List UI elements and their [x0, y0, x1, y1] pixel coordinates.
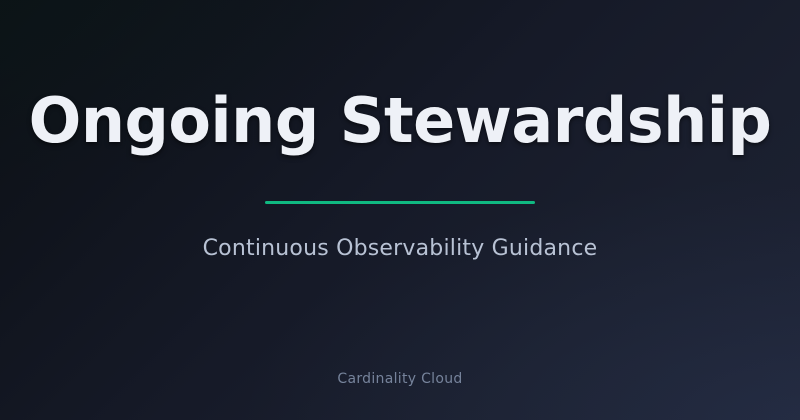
slide-subtitle: Continuous Observability Guidance: [0, 236, 800, 261]
title-slide: Ongoing Stewardship Continuous Observabi…: [0, 0, 800, 420]
slide-footer-brand: Cardinality Cloud: [0, 371, 800, 387]
page-title: Ongoing Stewardship: [0, 88, 800, 155]
accent-divider: [265, 201, 535, 204]
